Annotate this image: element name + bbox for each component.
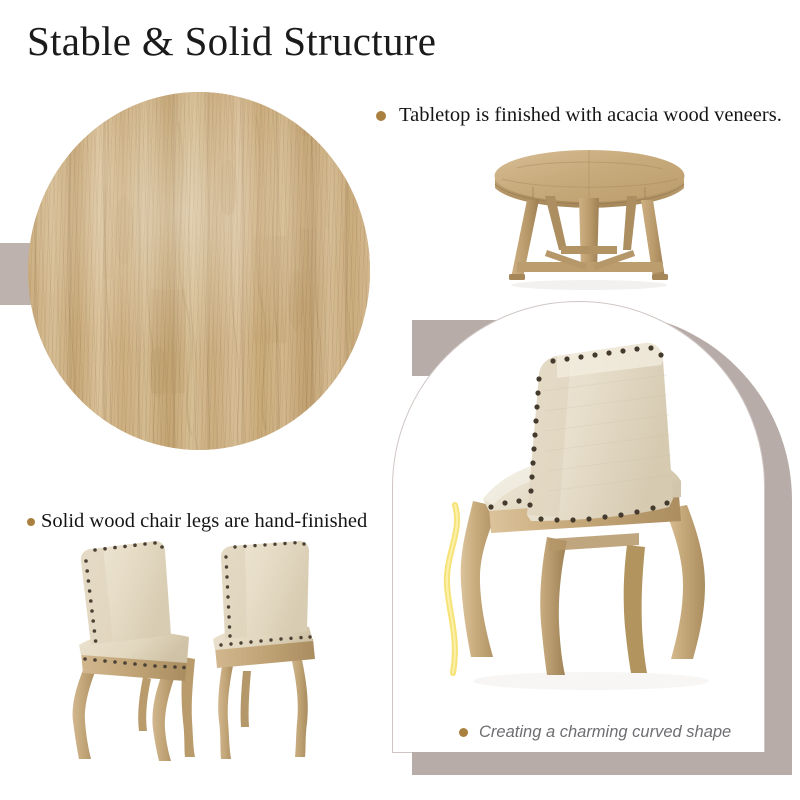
gray-accent-bottom: [412, 752, 792, 775]
tabletop-sheen: [28, 92, 370, 450]
curved-leg-highlight: [433, 501, 473, 679]
bullet-dot-icon: [376, 111, 386, 121]
bullet-chair-legs-label: Solid wood chair legs are hand-finished: [41, 510, 367, 533]
bullet-curved-shape: Creating a charming curved shape: [459, 723, 731, 742]
bullet-curved-shape-label: Creating a charming curved shape: [479, 723, 731, 742]
bullet-chair-legs: Solid wood chair legs are hand-finished: [27, 510, 367, 533]
round-acacia-tabletop: [28, 92, 370, 450]
bullet-tabletop: Tabletop is finished with acacia wood ve…: [376, 104, 782, 127]
page-title: Stable & Solid Structure: [27, 17, 436, 65]
upholstered-dining-chairs-pair: [55, 535, 355, 787]
arch-panel: Creating a charming curved shape: [392, 301, 765, 753]
bullet-dot-icon: [27, 518, 35, 526]
bullet-tabletop-label: Tabletop is finished with acacia wood ve…: [399, 104, 782, 127]
product-feature-slide: Stable & Solid Structure: [0, 0, 800, 800]
gray-accent-left: [0, 243, 31, 305]
round-dining-table: [487, 146, 692, 294]
bullet-dot-icon: [459, 728, 468, 737]
upholstered-dining-chair-back: [431, 331, 761, 751]
